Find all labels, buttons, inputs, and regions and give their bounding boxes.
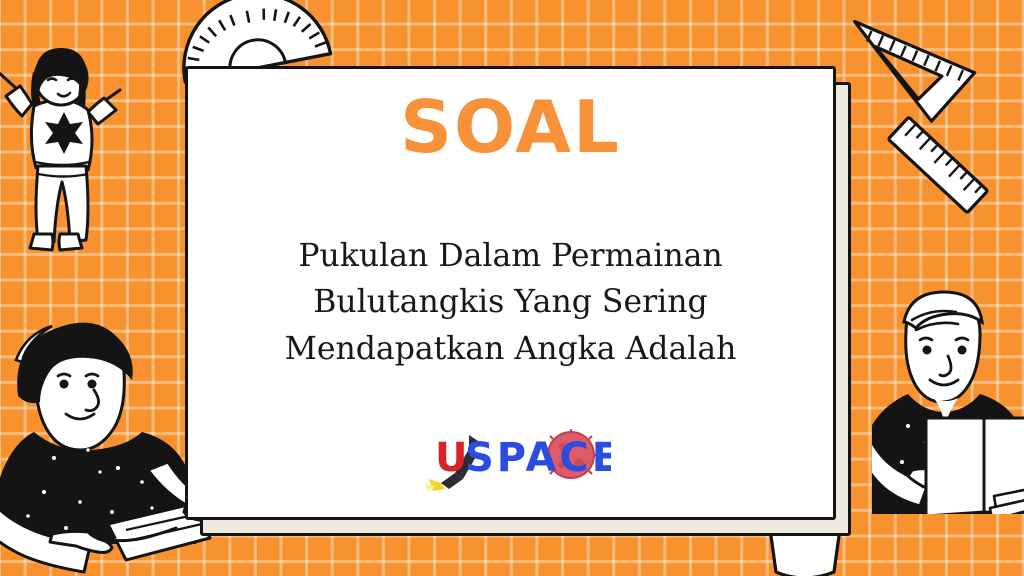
uspace-logo: U SPACE bbox=[411, 429, 611, 495]
question-line-1: Pukulan Dalam Permainan bbox=[230, 233, 791, 279]
person-reading-book-illustration bbox=[872, 282, 1024, 514]
girl-cheering-illustration bbox=[0, 28, 138, 260]
logo-letters-space: SPACE bbox=[465, 435, 611, 481]
slide-canvas: SOAL Pukulan Dalam Permainan Bulutangkis… bbox=[0, 0, 1024, 576]
whiteboard: SOAL Pukulan Dalam Permainan Bulutangkis… bbox=[185, 66, 836, 520]
page-title: SOAL bbox=[188, 91, 833, 163]
question-line-2: Bulutangkis Yang Sering bbox=[230, 279, 791, 325]
ruler-illustration bbox=[866, 98, 996, 238]
question-text: Pukulan Dalam Permainan Bulutangkis Yang… bbox=[230, 233, 791, 372]
question-line-3: Mendapatkan Angka Adalah bbox=[230, 326, 791, 372]
